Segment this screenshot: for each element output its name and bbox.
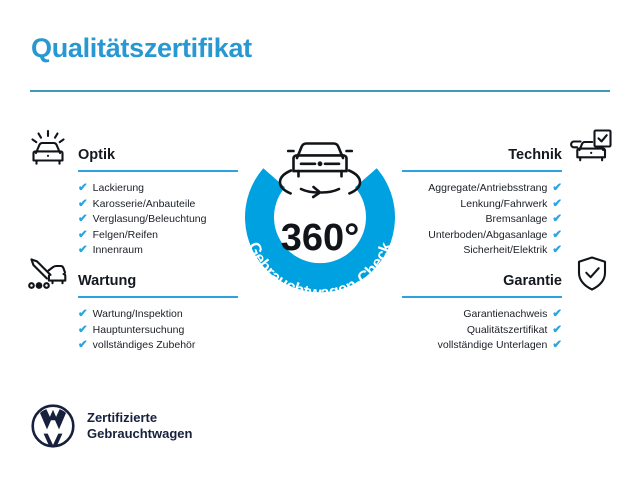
section-technik: Technik Aggregate/Antriebsstrang✔ Lenkun… xyxy=(402,132,610,259)
list-item-label: Lackierung xyxy=(93,181,144,197)
section-optik-title: Optik xyxy=(78,147,115,163)
check-icon: ✔ xyxy=(78,183,88,195)
footer-brand-lockup: Zertifizierte Gebrauchtwagen xyxy=(31,404,192,448)
shield-check-icon xyxy=(570,254,614,294)
list-item-label: Aggregate/Antriebsstrang xyxy=(428,181,547,197)
list-item-label: Innenraum xyxy=(93,243,143,259)
section-wartung-header: Wartung xyxy=(30,258,238,298)
list-item: Bremsanlage✔ xyxy=(402,212,610,228)
list-item-label: Karosserie/Anbauteile xyxy=(93,197,196,213)
check-icon: ✔ xyxy=(552,245,562,257)
list-item-label: Felgen/Reifen xyxy=(93,228,158,244)
car-service-icon xyxy=(26,254,70,294)
section-garantie-header: Garantie xyxy=(402,258,610,298)
list-item-label: Qualitätszertifikat xyxy=(467,323,548,339)
list-item: ✔Wartung/Inspektion xyxy=(30,307,238,323)
check-icon: ✔ xyxy=(552,325,562,337)
check-icon: ✔ xyxy=(552,340,562,352)
list-item-label: Verglasung/Beleuchtung xyxy=(93,212,207,228)
section-wartung: Wartung ✔Wartung/Inspektion ✔Hauptunters… xyxy=(30,258,238,354)
section-optik-underline xyxy=(78,170,238,172)
list-item: ✔Karosserie/Anbauteile xyxy=(30,197,238,213)
list-item: Garantienachweis✔ xyxy=(402,307,610,323)
section-garantie-title: Garantie xyxy=(503,273,562,289)
check-icon: ✔ xyxy=(552,309,562,321)
section-technik-header: Technik xyxy=(402,132,610,172)
car-rotation-icon xyxy=(280,144,360,198)
list-item: ✔Hauptuntersuchung xyxy=(30,323,238,339)
car-checkbox-icon xyxy=(570,128,614,168)
check-icon: ✔ xyxy=(552,199,562,211)
list-item: ✔Lackierung xyxy=(30,181,238,197)
list-item: ✔Verglasung/Beleuchtung xyxy=(30,212,238,228)
list-item: ✔vollständiges Zubehör xyxy=(30,338,238,354)
list-item-label: Lenkung/Fahrwerk xyxy=(460,197,547,213)
check-icon: ✔ xyxy=(552,230,562,242)
section-garantie-underline xyxy=(402,296,562,298)
footer-line-2: Gebrauchtwagen xyxy=(87,426,192,441)
section-optik-list: ✔Lackierung ✔Karosserie/Anbauteile ✔Verg… xyxy=(30,181,238,259)
check-icon: ✔ xyxy=(552,214,562,226)
section-wartung-list: ✔Wartung/Inspektion ✔Hauptuntersuchung ✔… xyxy=(30,307,238,354)
list-item: ✔Felgen/Reifen xyxy=(30,228,238,244)
badge-degrees: 360° xyxy=(281,217,360,259)
list-item-label: Unterboden/Abgasanlage xyxy=(428,228,547,244)
list-item: Lenkung/Fahrwerk✔ xyxy=(402,197,610,213)
section-optik-header: Optik xyxy=(30,132,238,172)
check-icon: ✔ xyxy=(78,340,88,352)
check-icon: ✔ xyxy=(78,325,88,337)
list-item-label: Sicherheit/Elektrik xyxy=(463,243,547,259)
section-technik-title: Technik xyxy=(508,147,562,163)
section-garantie: Garantie Garantienachweis✔ Qualitätszert… xyxy=(402,258,610,354)
check-icon: ✔ xyxy=(78,309,88,321)
check-icon: ✔ xyxy=(552,183,562,195)
list-item: vollständige Unterlagen✔ xyxy=(402,338,610,354)
check-icon: ✔ xyxy=(78,214,88,226)
list-item: Qualitätszertifikat✔ xyxy=(402,323,610,339)
list-item-label: Bremsanlage xyxy=(485,212,547,228)
check-icon: ✔ xyxy=(78,245,88,257)
list-item-label: vollständige Unterlagen xyxy=(438,338,548,354)
list-item: Unterboden/Abgasanlage✔ xyxy=(402,228,610,244)
section-technik-underline xyxy=(402,170,562,172)
section-garantie-list: Garantienachweis✔ Qualitätszertifikat✔ v… xyxy=(402,307,610,354)
header-divider xyxy=(30,90,610,92)
section-wartung-title: Wartung xyxy=(78,273,136,289)
list-item-label: Garantienachweis xyxy=(463,307,547,323)
section-wartung-underline xyxy=(78,296,238,298)
footer-brand-text: Zertifizierte Gebrauchtwagen xyxy=(87,410,192,442)
list-item-label: Hauptuntersuchung xyxy=(93,323,185,339)
list-item-label: Wartung/Inspektion xyxy=(93,307,183,323)
check-icon: ✔ xyxy=(78,199,88,211)
car-shine-icon xyxy=(26,128,70,168)
list-item-label: vollständiges Zubehör xyxy=(93,338,196,354)
badge-360-gebrauchtwagen-check: 360° Gebrauchtwagen-Check xyxy=(223,120,417,310)
section-optik: Optik ✔Lackierung ✔Karosserie/Anbauteile… xyxy=(30,132,238,259)
vw-logo xyxy=(31,404,75,448)
section-technik-list: Aggregate/Antriebsstrang✔ Lenkung/Fahrwe… xyxy=(402,181,610,259)
check-icon: ✔ xyxy=(78,230,88,242)
list-item: Aggregate/Antriebsstrang✔ xyxy=(402,181,610,197)
footer-line-1: Zertifizierte xyxy=(87,410,157,425)
page-title: Qualitätszertifikat xyxy=(31,33,252,64)
